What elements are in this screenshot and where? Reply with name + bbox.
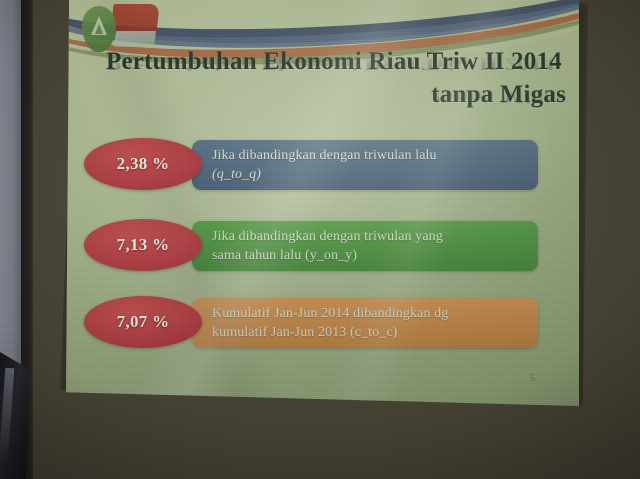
metric-value: 2,38 % [117,154,170,174]
metric-description-line-2: sama tahun lalu (y_on_y) [212,248,357,263]
metric-description-bar: Jika dibandingkan dengan triwulan yang s… [192,221,538,271]
metric-description-text: Jika dibandingkan dengan triwulan yang s… [212,227,443,265]
metric-value-ellipse: 2,38 % [84,138,202,190]
slide-title-block: Pertumbuhan Ekonomi Riau Triw II 2014 Pe… [100,48,570,114]
metric-description-line-2: kumulatif Jan-Jun 2013 (c_to_c) [212,325,397,340]
page-title-line-1: Pertumbuhan Ekonomi Riau Triw II 2014 [100,48,570,75]
presentation-slide: Pertumbuhan Ekonomi Riau Triw II 2014 Pe… [66,0,579,406]
metric-description-bar: Kumulatif Jan-Jun 2014 dibandingkan dg k… [192,298,538,348]
flag-pale-band [114,31,156,47]
page-title-line-2: tanpa Migas [100,81,570,108]
metric-description-bar: Jika dibandingkan dengan triwulan lalu (… [192,140,538,190]
metric-description-text: Jika dibandingkan dengan triwulan lalu (… [212,146,437,184]
metric-value: 7,07 % [117,312,170,332]
metric-row: Jika dibandingkan dengan triwulan lalu (… [80,136,560,194]
photographed-projection-screen: Pertumbuhan Ekonomi Riau Triw II 2014 Pe… [0,0,640,479]
slide-page-number: 5 [530,372,536,384]
red-flag-icon [110,4,159,34]
metric-description-text: Kumulatif Jan-Jun 2014 dibandingkan dg k… [212,304,448,342]
metric-description-line-1: Jika dibandingkan dengan triwulan lalu [212,148,437,163]
shield-emblem-inner-icon [95,24,103,34]
metric-description-line-1: Kumulatif Jan-Jun 2014 dibandingkan dg [212,306,448,321]
metric-row: Jika dibandingkan dengan triwulan yang s… [80,217,560,275]
title-line-1-wrap: Pertumbuhan Ekonomi Riau Triw II 2014 Pe… [100,48,570,81]
metric-description-line-1: Jika dibandingkan dengan triwulan yang [212,229,443,244]
metric-row: Kumulatif Jan-Jun 2014 dibandingkan dg k… [80,294,560,352]
title-line-2-wrap: tanpa Migas tanpa Migas [100,81,570,114]
metric-code-line: (q_to_q) [212,167,261,182]
metric-value-ellipse: 7,07 % [84,296,202,348]
metric-value-ellipse: 7,13 % [84,219,202,271]
metric-value: 7,13 % [117,235,170,255]
